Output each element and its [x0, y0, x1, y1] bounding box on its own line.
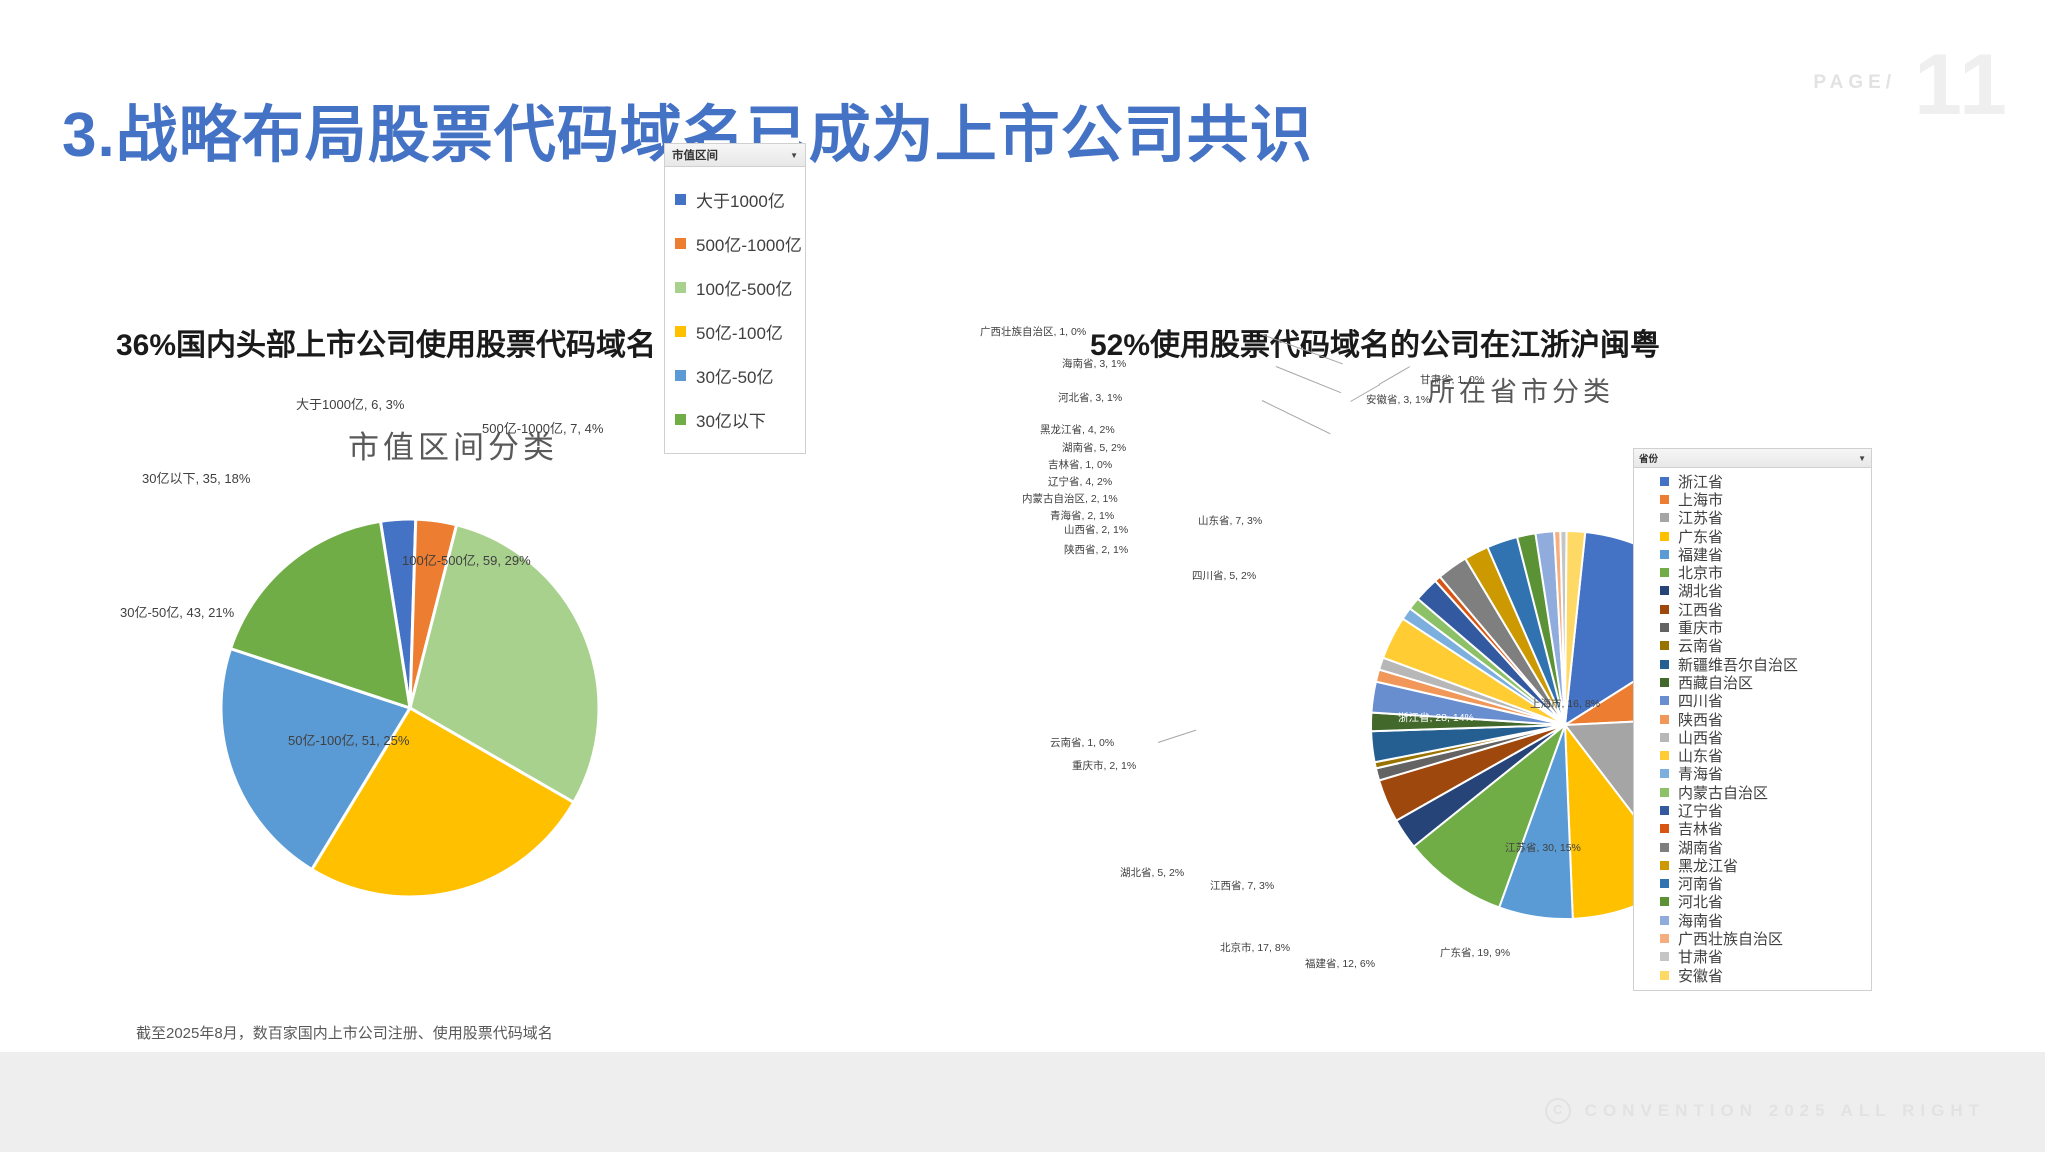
legend-swatch-icon: [1660, 495, 1669, 504]
legend-item[interactable]: 吉林省: [1640, 820, 1865, 838]
legend-swatch-icon: [1660, 660, 1669, 669]
legend-item[interactable]: 重庆市: [1640, 618, 1865, 636]
legend-swatch-icon: [1660, 934, 1669, 943]
legend-swatch-icon: [1660, 678, 1669, 687]
legend-item[interactable]: 江苏省: [1640, 509, 1865, 527]
legend-swatch-icon: [1660, 843, 1669, 852]
pie-data-label: 30亿以下, 35, 18%: [142, 468, 250, 487]
legend-right-header[interactable]: 省份 ▼: [1634, 449, 1871, 468]
pie-data-label: 云南省, 1, 0%: [1050, 735, 1114, 750]
pie-data-label: 湖南省, 5, 2%: [1062, 440, 1126, 455]
legend-swatch-icon: [1660, 971, 1669, 980]
legend-item[interactable]: 上海市: [1640, 490, 1865, 508]
pie-data-label: 山东省, 7, 3%: [1198, 513, 1262, 528]
legend-swatch-icon: [1660, 605, 1669, 614]
legend-item[interactable]: 山西省: [1640, 728, 1865, 746]
copyright-text: CONVENTION 2025 ALL RIGHT: [1585, 1101, 1985, 1121]
leader-line: [1158, 730, 1196, 743]
legend-swatch-icon: [1660, 806, 1669, 815]
pie-data-label: 西藏自治区, 3, 1%: [1192, 590, 1277, 605]
pie-data-label: 广西壮族自治区, 1, 0%: [980, 324, 1086, 339]
legend-item[interactable]: 内蒙古自治区: [1640, 783, 1865, 801]
pie-data-label: 陕西省, 2, 1%: [1064, 542, 1128, 557]
copyright-icon: C: [1545, 1098, 1571, 1124]
leader-line: [1276, 366, 1341, 393]
pie-data-label: 甘肃省, 1, 0%: [1420, 372, 1484, 387]
legend-swatch-icon: [675, 414, 686, 425]
pie-data-label: 重庆市, 2, 1%: [1072, 758, 1136, 773]
legend-swatch-icon: [1660, 641, 1669, 650]
subheading-right: 52%使用股票代码域名的公司在江浙沪闽粤: [1090, 320, 1660, 364]
legend-left-body: 大于1000亿500亿-1000亿100亿-500亿50亿-100亿30亿-50…: [665, 167, 805, 453]
pie-data-label: 江苏省, 30, 15%: [1505, 840, 1581, 855]
legend-item[interactable]: 500亿-1000亿: [675, 221, 795, 265]
legend-swatch-icon: [1660, 623, 1669, 632]
pie-data-label: 100亿-500亿, 59, 29%: [402, 550, 531, 569]
legend-item[interactable]: 湖南省: [1640, 838, 1865, 856]
legend-swatch-icon: [675, 238, 686, 249]
bottom-bar: C CONVENTION 2025 ALL RIGHT: [0, 1052, 2045, 1152]
legend-item[interactable]: 山东省: [1640, 746, 1865, 764]
legend-left-title: 市值区间: [672, 147, 718, 163]
legend-item[interactable]: 湖北省: [1640, 582, 1865, 600]
pie-svg: [220, 518, 600, 898]
legend-swatch-icon: [675, 282, 686, 293]
legend-item[interactable]: 辽宁省: [1640, 801, 1865, 819]
pie-data-label: 新疆维吾尔自治区, 5, 2%: [1190, 615, 1307, 630]
legend-swatch-icon: [1660, 715, 1669, 724]
legend-item[interactable]: 30亿以下: [675, 397, 795, 441]
legend-swatch-icon: [1660, 861, 1669, 870]
pie-data-label: 上海市, 16, 8%: [1530, 696, 1600, 711]
legend-swatch-icon: [1660, 897, 1669, 906]
legend-swatch-icon: [675, 194, 686, 205]
legend-item[interactable]: 新疆维吾尔自治区: [1640, 655, 1865, 673]
pie-data-label: 河南省, 5, 2%: [1312, 458, 1358, 485]
legend-market-cap[interactable]: 市值区间 ▼ 大于1000亿500亿-1000亿100亿-500亿50亿-100…: [664, 143, 806, 454]
pie-data-label: 吉林省, 1, 0%: [1048, 457, 1112, 472]
legend-item[interactable]: 黑龙江省: [1640, 856, 1865, 874]
legend-item[interactable]: 云南省: [1640, 637, 1865, 655]
legend-item[interactable]: 河北省: [1640, 893, 1865, 911]
legend-swatch-icon: [1660, 733, 1669, 742]
pie-left: [220, 518, 600, 898]
legend-item[interactable]: 安徽省: [1640, 966, 1865, 984]
pie-data-label: 50亿-100亿, 51, 25%: [288, 730, 409, 749]
leader-line: [1379, 366, 1411, 385]
legend-item[interactable]: 100亿-500亿: [675, 265, 795, 309]
legend-swatch-icon: [1660, 550, 1669, 559]
copyright: C CONVENTION 2025 ALL RIGHT: [1545, 1098, 1985, 1124]
legend-item[interactable]: 福建省: [1640, 545, 1865, 563]
chart-market-cap: 市值区间分类 大于1000亿, 6, 3%500亿-1000亿, 7, 4%10…: [100, 400, 980, 1040]
legend-swatch-icon: [1660, 952, 1669, 961]
legend-swatch-icon: [1660, 751, 1669, 760]
legend-swatch-icon: [1660, 513, 1669, 522]
legend-swatch-icon: [675, 326, 686, 337]
leader-line: [1262, 400, 1331, 434]
pie-data-label: 广东省, 19, 9%: [1440, 945, 1510, 960]
subheading-left: 36%国内头部上市公司使用股票代码域名: [116, 320, 656, 364]
legend-item[interactable]: 北京市: [1640, 563, 1865, 581]
legend-right-body: 浙江省上海市江苏省广东省福建省北京市湖北省江西省重庆市云南省新疆维吾尔自治区西藏…: [1634, 468, 1871, 990]
legend-swatch-icon: [1660, 696, 1669, 705]
page-number: 11: [1914, 52, 2009, 119]
legend-item[interactable]: 四川省: [1640, 692, 1865, 710]
legend-item[interactable]: 30亿-50亿: [675, 353, 795, 397]
pie-data-label: 安徽省, 3, 1%: [1366, 392, 1430, 407]
footnote: 截至2025年8月，数百家国内上市公司注册、使用股票代码域名: [136, 1022, 553, 1043]
pie-data-label: 青海省, 2, 1%: [1050, 508, 1114, 523]
pie-data-label: 四川省, 5, 2%: [1192, 568, 1256, 583]
legend-swatch-icon: [1660, 824, 1669, 833]
legend-swatch-icon: [1660, 788, 1669, 797]
pie-data-label: 河北省, 3, 1%: [1058, 390, 1122, 405]
pie-data-label: 江西省, 7, 3%: [1210, 878, 1274, 893]
pie-data-label: 辽宁省, 4, 2%: [1048, 474, 1112, 489]
legend-item-label: 30亿以下: [696, 407, 766, 432]
pie-data-label: 30亿-50亿, 43, 21%: [120, 602, 234, 621]
pie-data-label: 福建省, 12, 6%: [1305, 956, 1375, 971]
legend-item[interactable]: 广东省: [1640, 527, 1865, 545]
pie-data-label: 大于1000亿, 6, 3%: [296, 394, 404, 413]
legend-item[interactable]: 大于1000亿: [675, 177, 795, 221]
legend-item[interactable]: 甘肃省: [1640, 948, 1865, 966]
legend-item[interactable]: 50亿-100亿: [675, 309, 795, 353]
pie-data-label: 500亿-1000亿, 7, 4%: [482, 418, 603, 437]
legend-swatch-icon: [1660, 769, 1669, 778]
pie-data-label: 湖北省, 5, 2%: [1120, 865, 1184, 880]
pie-data-label: 山西省, 2, 1%: [1064, 522, 1128, 537]
legend-swatch-icon: [1660, 916, 1669, 925]
legend-item[interactable]: 江西省: [1640, 600, 1865, 618]
chevron-down-icon[interactable]: ▼: [1858, 454, 1866, 463]
legend-right-title: 省份: [1639, 451, 1658, 465]
legend-item[interactable]: 广西壮族自治区: [1640, 929, 1865, 947]
legend-item-label: 安徽省: [1678, 965, 1723, 986]
legend-item[interactable]: 海南省: [1640, 911, 1865, 929]
legend-item[interactable]: 浙江省: [1640, 472, 1865, 490]
legend-swatch-icon: [1660, 586, 1669, 595]
legend-item[interactable]: 青海省: [1640, 765, 1865, 783]
legend-swatch-icon: [675, 370, 686, 381]
page-marker: PAGE/ 11: [1813, 52, 2009, 119]
legend-item-label: 100亿-500亿: [696, 275, 792, 300]
legend-item-label: 大于1000亿: [696, 187, 785, 212]
legend-item-label: 50亿-100亿: [696, 319, 783, 344]
pie-data-label: 北京市, 17, 8%: [1220, 940, 1290, 955]
pie-data-label: 海南省, 3, 1%: [1062, 356, 1126, 371]
legend-left-header[interactable]: 市值区间 ▼: [665, 144, 805, 167]
legend-swatch-icon: [1660, 532, 1669, 541]
legend-item[interactable]: 西藏自治区: [1640, 673, 1865, 691]
legend-item[interactable]: 河南省: [1640, 875, 1865, 893]
legend-swatch-icon: [1660, 879, 1669, 888]
pie-data-label: 黑龙江省, 4, 2%: [1040, 422, 1115, 437]
legend-item[interactable]: 陕西省: [1640, 710, 1865, 728]
legend-province[interactable]: 省份 ▼ 浙江省上海市江苏省广东省福建省北京市湖北省江西省重庆市云南省新疆维吾尔…: [1633, 448, 1872, 991]
page-label: PAGE/: [1813, 72, 1896, 94]
legend-item-label: 30亿-50亿: [696, 363, 773, 388]
legend-swatch-icon: [1660, 568, 1669, 577]
pie-data-label: 浙江省, 28, 14%: [1398, 710, 1474, 725]
chevron-down-icon[interactable]: ▼: [790, 151, 798, 160]
pie-data-label: 内蒙古自治区, 2, 1%: [1022, 491, 1118, 506]
legend-item-label: 500亿-1000亿: [696, 231, 802, 256]
legend-swatch-icon: [1660, 477, 1669, 486]
